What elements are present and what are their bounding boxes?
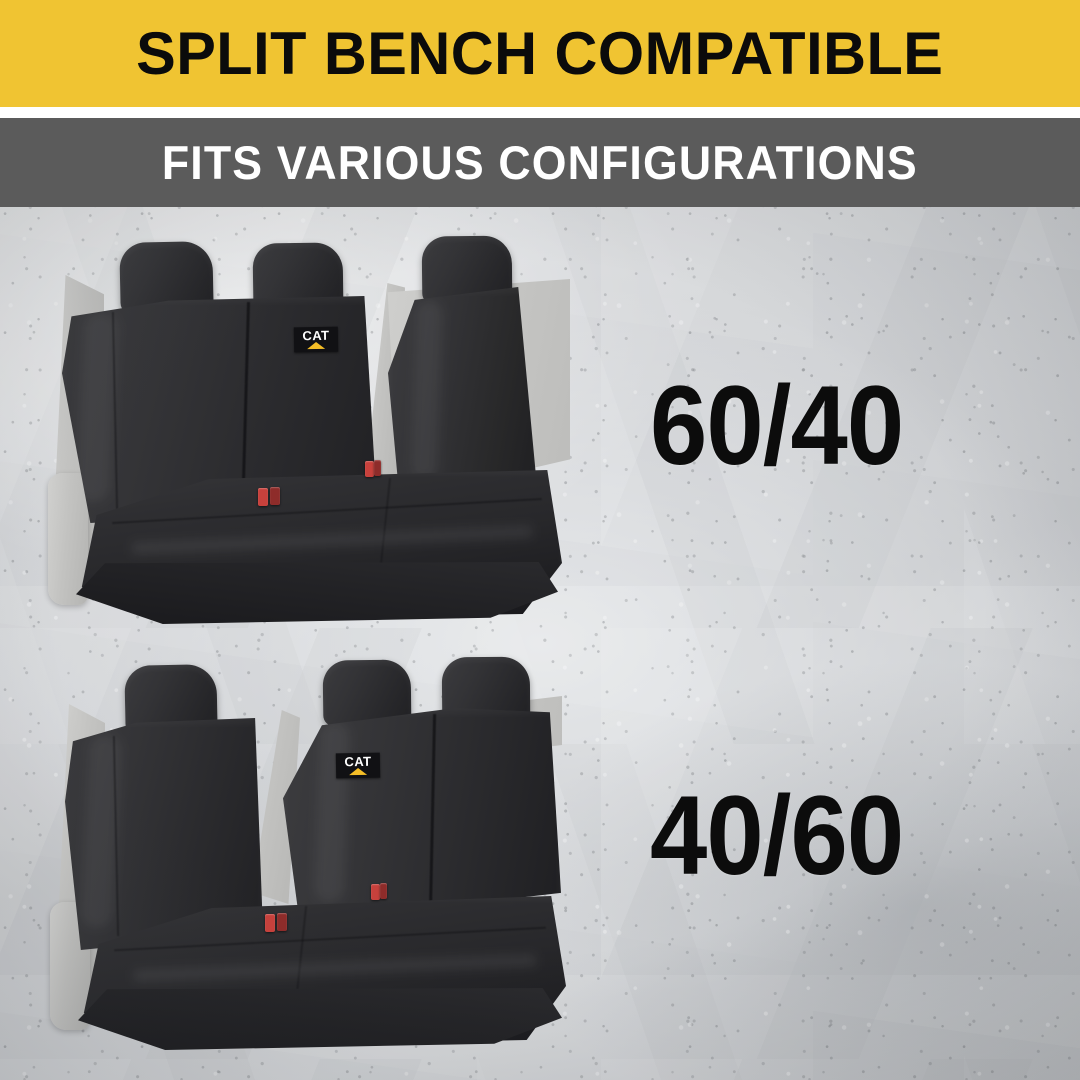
cat-logo-triangle [307, 341, 325, 348]
vehicle-seat-frame-left-lower [48, 473, 88, 605]
page-title: SPLIT BENCH COMPATIBLE [136, 24, 943, 84]
seat-cover-60-40: CAT [40, 217, 600, 657]
subtitle-banner: FITS VARIOUS CONFIGURATIONS [0, 118, 1080, 207]
cat-logo-text: CAT [294, 329, 338, 343]
product-photo-stage: CAT 60/40 [0, 207, 1080, 1080]
backrest-wide-60-2 [283, 708, 561, 923]
cat-logo-triangle-2 [349, 767, 367, 774]
page-subtitle: FITS VARIOUS CONFIGURATIONS [162, 139, 918, 186]
seat-cover-40-60: CAT [40, 640, 600, 1080]
ratio-label-40-60: 40/60 [650, 780, 903, 892]
seatbelt-buckle-right-b [371, 884, 380, 900]
backrest-narrow-40 [388, 287, 536, 502]
cushion-front-skirt-40-60 [78, 988, 562, 1050]
backrest-wide-highlight-2 [314, 722, 350, 903]
cushion-seam-top-2 [114, 927, 546, 952]
product-marketing-image: SPLIT BENCH COMPATIBLE FITS VARIOUS CONF… [0, 0, 1080, 1080]
banner-divider [0, 107, 1080, 118]
seatbelt-buckle-center [258, 488, 268, 506]
cushion-front-highlight-2 [134, 954, 536, 981]
backrest-narrow-highlight [411, 301, 443, 480]
cushion-front-skirt-60-40 [76, 562, 558, 624]
cat-logo-badge-60-40: CAT [294, 327, 338, 353]
cushion-seam-top [112, 498, 541, 524]
seatbelt-buckle-right-b2 [380, 883, 387, 899]
backrest-seam-center-2 [429, 714, 436, 914]
cushion-seam-split [379, 478, 391, 574]
seatbelt-buckle-right-2 [374, 460, 381, 476]
cat-logo-text-2: CAT [336, 755, 380, 769]
seatbelt-buckle-center-2 [270, 487, 280, 505]
ratio-label-60-40: 60/40 [650, 370, 903, 482]
cat-logo-badge-40-60: CAT [336, 753, 380, 779]
seatbelt-buckle-right [365, 461, 374, 477]
seatbelt-buckle-center-b2 [277, 913, 287, 931]
title-banner: SPLIT BENCH COMPATIBLE [0, 0, 1080, 107]
cushion-front-highlight [132, 526, 532, 555]
seatbelt-buckle-center-b [265, 914, 275, 932]
